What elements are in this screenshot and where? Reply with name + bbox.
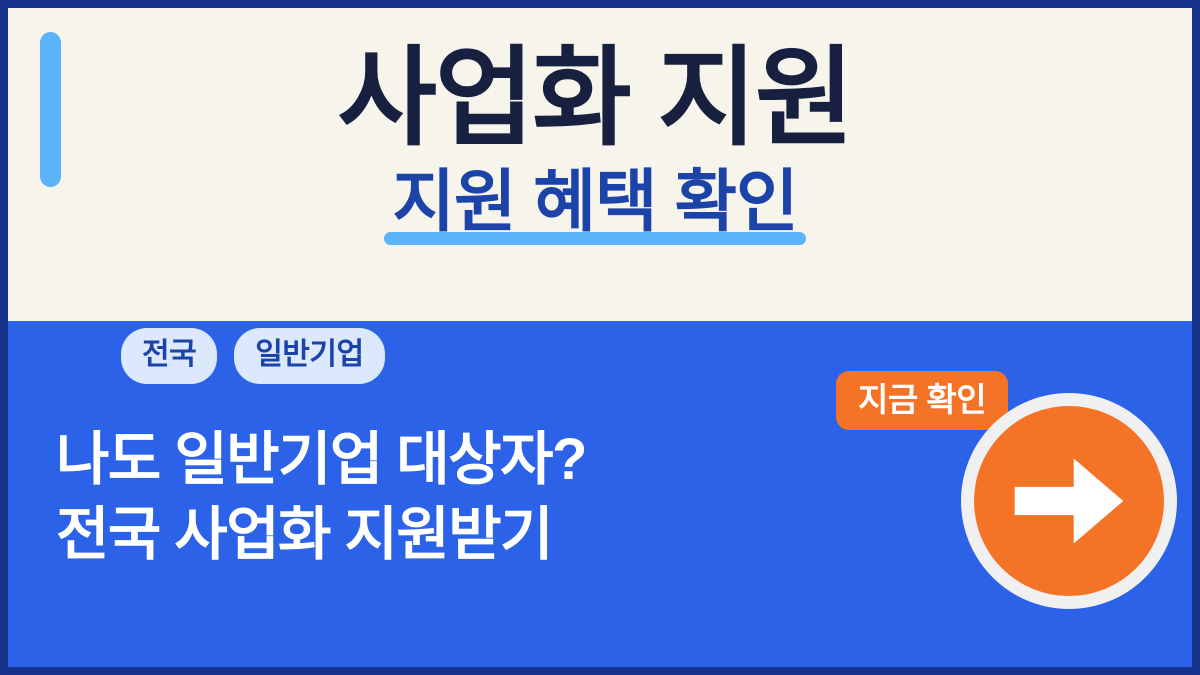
title-block: 사업화 지원 지원 혜택 확인 xyxy=(8,8,1192,239)
body-line-question: 나도 일반기업 대상자? xyxy=(56,422,586,497)
arrow-right-icon xyxy=(1010,442,1128,560)
tag-badge-row: 전국 일반기업 xyxy=(121,328,385,384)
subtitle-wrapper: 지원 혜택 확인 xyxy=(392,165,797,240)
banner-top-section: 사업화 지원 지원 혜택 확인 xyxy=(8,8,1192,321)
page-title: 사업화 지원 xyxy=(8,8,1182,157)
cta-label-badge[interactable]: 지금 확인 xyxy=(836,371,1008,430)
tag-badge-region[interactable]: 전국 xyxy=(121,328,217,384)
cta-arrow-button[interactable] xyxy=(961,393,1177,609)
body-copy: 나도 일반기업 대상자? 전국 사업화 지원받기 xyxy=(56,422,586,573)
page-subtitle: 지원 혜택 확인 xyxy=(392,165,797,240)
tag-badge-company-type[interactable]: 일반기업 xyxy=(234,328,384,384)
body-line-action: 전국 사업화 지원받기 xyxy=(56,497,586,572)
promo-banner: 사업화 지원 지원 혜택 확인 전국 일반기업 나도 일반기업 대상자? 전국 … xyxy=(0,0,1200,675)
